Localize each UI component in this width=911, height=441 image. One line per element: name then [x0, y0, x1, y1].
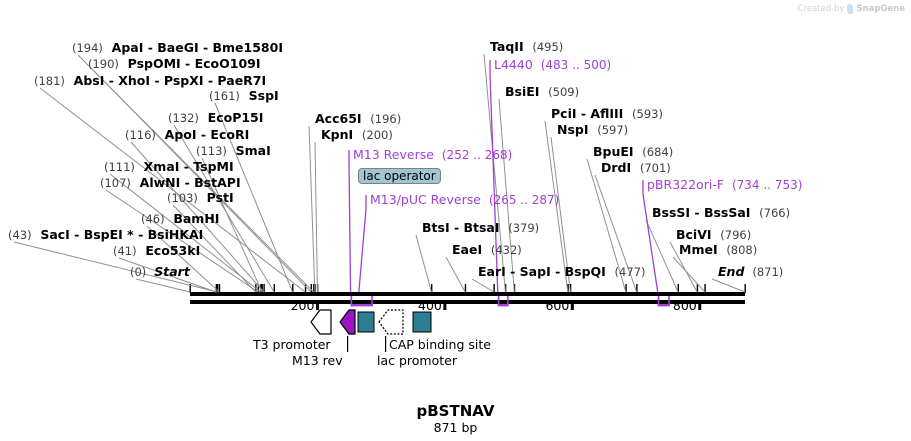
enzyme-label-pcii[interactable]: PciI - AflIII (593): [551, 107, 663, 121]
primer-range-bar[interactable]: [498, 304, 509, 306]
enzyme-label-alwni[interactable]: (107) AlwNI - BstAPI: [100, 176, 241, 190]
label-position: (766): [759, 206, 790, 220]
ruler-tick: [698, 300, 701, 310]
label-text: AbsI - XhoI - PspXI - PaeR7I: [74, 73, 267, 88]
label-position: (0): [130, 265, 146, 279]
leader-line: [416, 235, 431, 292]
label-text: EarI - SapI - BspQI: [478, 264, 606, 279]
leader-line: [309, 126, 315, 292]
label-position: (871): [752, 265, 783, 279]
ruler-tick-label: 200: [284, 298, 314, 313]
primer-leader-line: [349, 150, 351, 292]
label-position: (701): [640, 161, 671, 175]
label-text: End: [718, 264, 744, 279]
label-text: ApaI - BaeGI - Bme1580I: [112, 40, 283, 55]
enzyme-label-bsiei[interactable]: BsiEI (509): [505, 85, 579, 99]
label-text: SmaI: [236, 143, 271, 158]
label-range: (265 .. 287): [489, 193, 559, 207]
leader-line: [446, 257, 465, 292]
label-text: DrdI: [601, 160, 631, 175]
label-position: (432): [491, 243, 522, 257]
label-text: SacI - BspEI * - BsiHKAI: [40, 227, 203, 242]
feature-lac-promoter[interactable]: [379, 310, 403, 334]
leader-line: [646, 220, 678, 292]
label-text: BssSI - BssSaI: [652, 205, 750, 220]
feature-m13-rev[interactable]: [340, 310, 355, 334]
plasmid-map-canvas: Created by SnapGene 200400600800(194) Ap…: [0, 0, 911, 441]
label-range: (734 .. 753): [732, 178, 802, 192]
feature-caption-connector: [385, 336, 386, 352]
label-position: (495): [532, 40, 563, 54]
primer-range-bar[interactable]: [351, 304, 373, 306]
label-position: (477): [615, 265, 646, 279]
label-position: (684): [642, 145, 673, 159]
plasmid-name: pBSTNAV: [0, 402, 911, 420]
enzyme-label-nspi[interactable]: NspI (597): [557, 123, 628, 137]
label-text: TaqII: [490, 39, 524, 54]
label-text: XmaI - TspMI: [144, 159, 234, 174]
label-text: pBR322ori-F: [647, 177, 724, 192]
enzyme-label-drdi[interactable]: DrdI (701): [601, 161, 671, 175]
enzyme-label-ecop15i[interactable]: (132) EcoP15I: [168, 111, 263, 125]
label-text: ApoI - EcoRI: [165, 127, 250, 142]
label-text: L4440: [494, 57, 533, 72]
enzyme-label-smai[interactable]: (113) SmaI: [196, 144, 271, 158]
enzyme-label-psti[interactable]: (103) PstI: [167, 191, 234, 205]
enzyme-label-saci[interactable]: (43) SacI - BspEI * - BsiHKAI: [8, 228, 203, 242]
plasmid-length: 871 bp: [0, 420, 911, 435]
label-position: (46): [141, 212, 165, 226]
enzyme-label-mmei[interactable]: MmeI (808): [679, 243, 757, 257]
label-position: (41): [113, 244, 137, 258]
label-text: BsiEI: [505, 84, 539, 99]
primer-leader-line: [490, 60, 498, 292]
label-text: PspOMI - EcoO109I: [128, 56, 261, 71]
enzyme-label-pspomi[interactable]: (190) PspOMI - EcoO109I: [88, 57, 261, 71]
label-text: Acc65I: [315, 111, 362, 126]
label-text: EcoP15I: [208, 110, 264, 125]
label-position: (200): [362, 128, 393, 142]
terminus-label-start[interactable]: (0) Start: [130, 265, 190, 279]
enzyme-label-bsssi[interactable]: BssSI - BssSaI (766): [652, 206, 790, 220]
label-position: (181): [34, 74, 65, 88]
feature-t3-promoter[interactable]: [311, 310, 331, 334]
label-text: BpuEI: [593, 144, 634, 159]
label-text: EaeI: [452, 242, 482, 257]
label-position: (107): [100, 176, 131, 190]
feature-caption-m13-rev-caption[interactable]: M13 rev: [292, 353, 343, 368]
primer-label-m13rev[interactable]: M13 Reverse (252 .. 268): [353, 148, 512, 162]
label-text: BamHI: [173, 211, 219, 226]
feature-caption-lac-promoter-caption[interactable]: lac promoter: [377, 353, 457, 368]
enzyme-label-kpni[interactable]: KpnI (200): [321, 128, 393, 142]
enzyme-label-bpuei[interactable]: BpuEI (684): [593, 145, 673, 159]
leader-line: [472, 279, 494, 292]
label-position: (509): [548, 85, 579, 99]
feature-caption-cap-binding-caption[interactable]: CAP binding site: [389, 337, 491, 352]
enzyme-label-apai[interactable]: (194) ApaI - BaeGI - Bme1580I: [72, 41, 283, 55]
primer-range-end-tick: [371, 296, 373, 306]
enzyme-label-sspi[interactable]: (161) SspI: [209, 89, 279, 103]
label-range: (252 .. 268): [442, 148, 512, 162]
primer-label-m13puc[interactable]: M13/pUC Reverse (265 .. 287): [370, 193, 559, 207]
label-text: Start: [154, 264, 190, 279]
ruler-tick: [316, 300, 319, 310]
label-position: (132): [168, 111, 199, 125]
label-position: (103): [167, 191, 198, 205]
label-text: M13/pUC Reverse: [370, 192, 481, 207]
label-position: (194): [72, 41, 103, 55]
label-position: (808): [726, 243, 757, 257]
primer-range-start-tick: [351, 296, 353, 306]
label-position: (111): [104, 160, 135, 174]
label-position: (593): [632, 107, 663, 121]
label-position: (796): [720, 228, 751, 242]
enzyme-label-apoi[interactable]: (116) ApoI - EcoRI: [125, 128, 249, 142]
primer-label-l4440[interactable]: L4440 (483 .. 500): [494, 58, 611, 72]
primer-leader-line: [359, 195, 366, 292]
label-text: PstI: [207, 190, 234, 205]
feature-caption-connector: [347, 336, 348, 352]
label-text: PciI - AflIII: [551, 106, 623, 121]
label-text: KpnI: [321, 127, 353, 142]
enzyme-label-bcivi[interactable]: BciVI (796): [676, 228, 751, 242]
label-position: (161): [209, 89, 240, 103]
label-position: (379): [508, 221, 539, 235]
label-text: Eco53kI: [145, 243, 200, 258]
primer-range-end-tick: [507, 296, 509, 306]
primer-label-pbr322ori-f[interactable]: pBR322ori-F (734 .. 753): [647, 178, 802, 192]
ruler-tick: [443, 300, 446, 310]
label-text: BciVI: [676, 227, 712, 242]
enzyme-label-eaei[interactable]: EaeI (432): [452, 243, 522, 257]
label-text: AlwNI - BstAPI: [140, 175, 241, 190]
label-text: MmeI: [679, 242, 718, 257]
label-text: M13 Reverse: [353, 147, 434, 162]
enzyme-label-eari[interactable]: EarI - SapI - BspQI (477): [478, 265, 645, 279]
map-title: pBSTNAV 871 bp: [0, 402, 911, 435]
enzyme-label-absi[interactable]: (181) AbsI - XhoI - PspXI - PaeR7I: [34, 74, 266, 88]
label-position: (597): [597, 123, 628, 137]
enzyme-label-xmai[interactable]: (111) XmaI - TspMI: [104, 160, 234, 174]
ruler-tick-label: 800: [667, 298, 697, 313]
leader-line: [136, 279, 190, 292]
ruler-tick: [571, 300, 574, 310]
feature-box-lac-operator[interactable]: lac operator: [358, 168, 441, 184]
label-position: (113): [196, 144, 227, 158]
primer-range-start-tick: [658, 296, 660, 306]
backbone-upper: [190, 292, 745, 296]
ruler-tick-label: 600: [539, 298, 569, 313]
enzyme-label-bamhi[interactable]: (46) BamHI: [141, 212, 219, 226]
label-position: (196): [370, 112, 401, 126]
label-range: (483 .. 500): [541, 58, 611, 72]
label-position: (43): [8, 228, 32, 242]
terminus-label-end[interactable]: End (871): [718, 265, 783, 279]
enzyme-label-taqii[interactable]: TaqII (495): [490, 40, 563, 54]
enzyme-label-btsi[interactable]: BtsI - BtsaI (379): [422, 221, 539, 235]
feature-cap-binding-site[interactable]: [413, 312, 431, 332]
enzyme-label-acc65i[interactable]: Acc65I (196): [315, 112, 401, 126]
label-text: BtsI - BtsaI: [422, 220, 500, 235]
ruler-tick-label: 400: [412, 298, 442, 313]
primer-range-start-tick: [498, 296, 500, 306]
backbone-lower: [190, 300, 745, 304]
label-position: (116): [125, 128, 156, 142]
feature-caption-t3-promoter-caption[interactable]: T3 promoter: [253, 337, 331, 352]
leader-line: [315, 142, 317, 292]
label-text: NspI: [557, 122, 589, 137]
feature-lac-operator-ft[interactable]: [358, 312, 374, 332]
label-position: (190): [88, 57, 119, 71]
label-text: SspI: [249, 88, 279, 103]
enzyme-label-eco53ki[interactable]: (41) Eco53kI: [113, 244, 200, 258]
leader-line: [712, 279, 745, 292]
